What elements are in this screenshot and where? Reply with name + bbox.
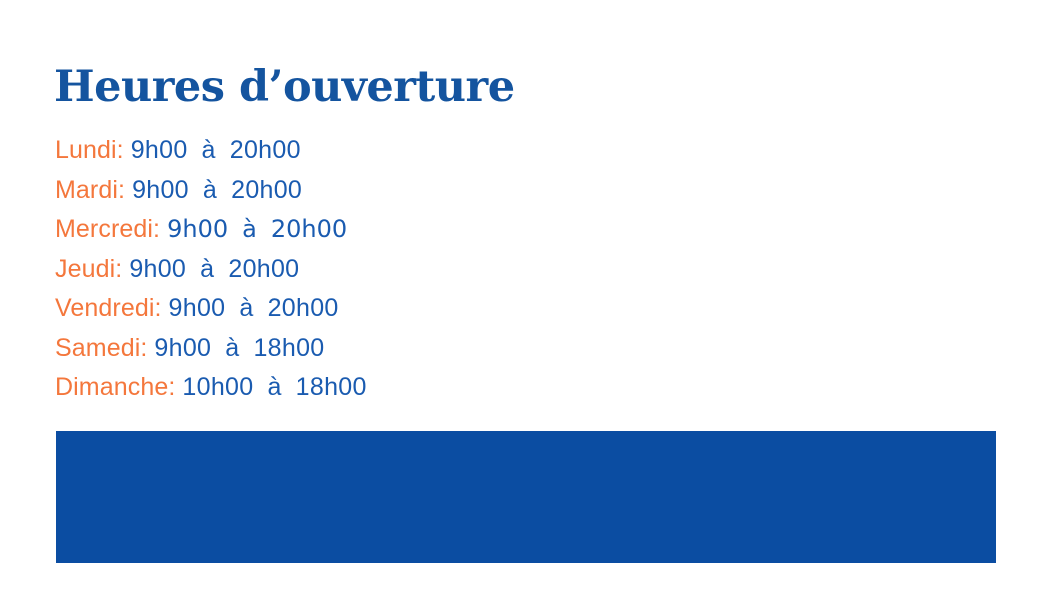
page-title: Heures d’ouverture: [54, 62, 515, 112]
time-separator: à: [218, 329, 246, 369]
time-separator: à: [195, 131, 223, 171]
day-label: Dimanche:: [55, 373, 175, 401]
time-close: 18h00: [253, 334, 324, 362]
list-item: Mercredi:9h00à20h00: [55, 210, 755, 250]
time-close: 20h00: [228, 255, 299, 283]
day-label: Jeudi:: [55, 255, 122, 283]
day-label: Lundi:: [55, 136, 124, 164]
bottom-banner-block: [56, 431, 996, 563]
day-label: Samedi:: [55, 334, 147, 362]
time-separator: à: [260, 368, 288, 408]
day-label: Mercredi:: [55, 215, 160, 243]
time-open: 9h00: [167, 215, 228, 243]
time-separator: à: [196, 171, 224, 211]
time-close: 18h00: [296, 373, 367, 401]
time-close: 20h00: [271, 215, 347, 243]
day-label: Vendredi:: [55, 294, 162, 322]
time-close: 20h00: [230, 136, 301, 164]
time-separator: à: [235, 210, 264, 250]
time-close: 20h00: [268, 294, 339, 322]
time-open: 9h00: [154, 334, 211, 362]
list-item: Samedi:9h00à18h00: [55, 329, 755, 369]
time-open: 9h00: [169, 294, 226, 322]
slide-canvas: Heures d’ouverture Lundi:9h00à20h00 Mard…: [0, 0, 1050, 600]
time-separator: à: [232, 289, 260, 329]
time-open: 9h00: [131, 136, 188, 164]
opening-hours-list: Lundi:9h00à20h00 Mardi:9h00à20h00 Mercre…: [55, 131, 755, 408]
time-close: 20h00: [231, 176, 302, 204]
list-item: Dimanche:10h00à18h00: [55, 368, 755, 408]
time-separator: à: [193, 250, 221, 290]
list-item: Vendredi:9h00à20h00: [55, 289, 755, 329]
list-item: Mardi:9h00à20h00: [55, 171, 755, 211]
time-open: 9h00: [132, 176, 189, 204]
list-item: Lundi:9h00à20h00: [55, 131, 755, 171]
time-open: 9h00: [129, 255, 186, 283]
list-item: Jeudi:9h00à20h00: [55, 250, 755, 290]
day-label: Mardi:: [55, 176, 125, 204]
time-open: 10h00: [182, 373, 253, 401]
